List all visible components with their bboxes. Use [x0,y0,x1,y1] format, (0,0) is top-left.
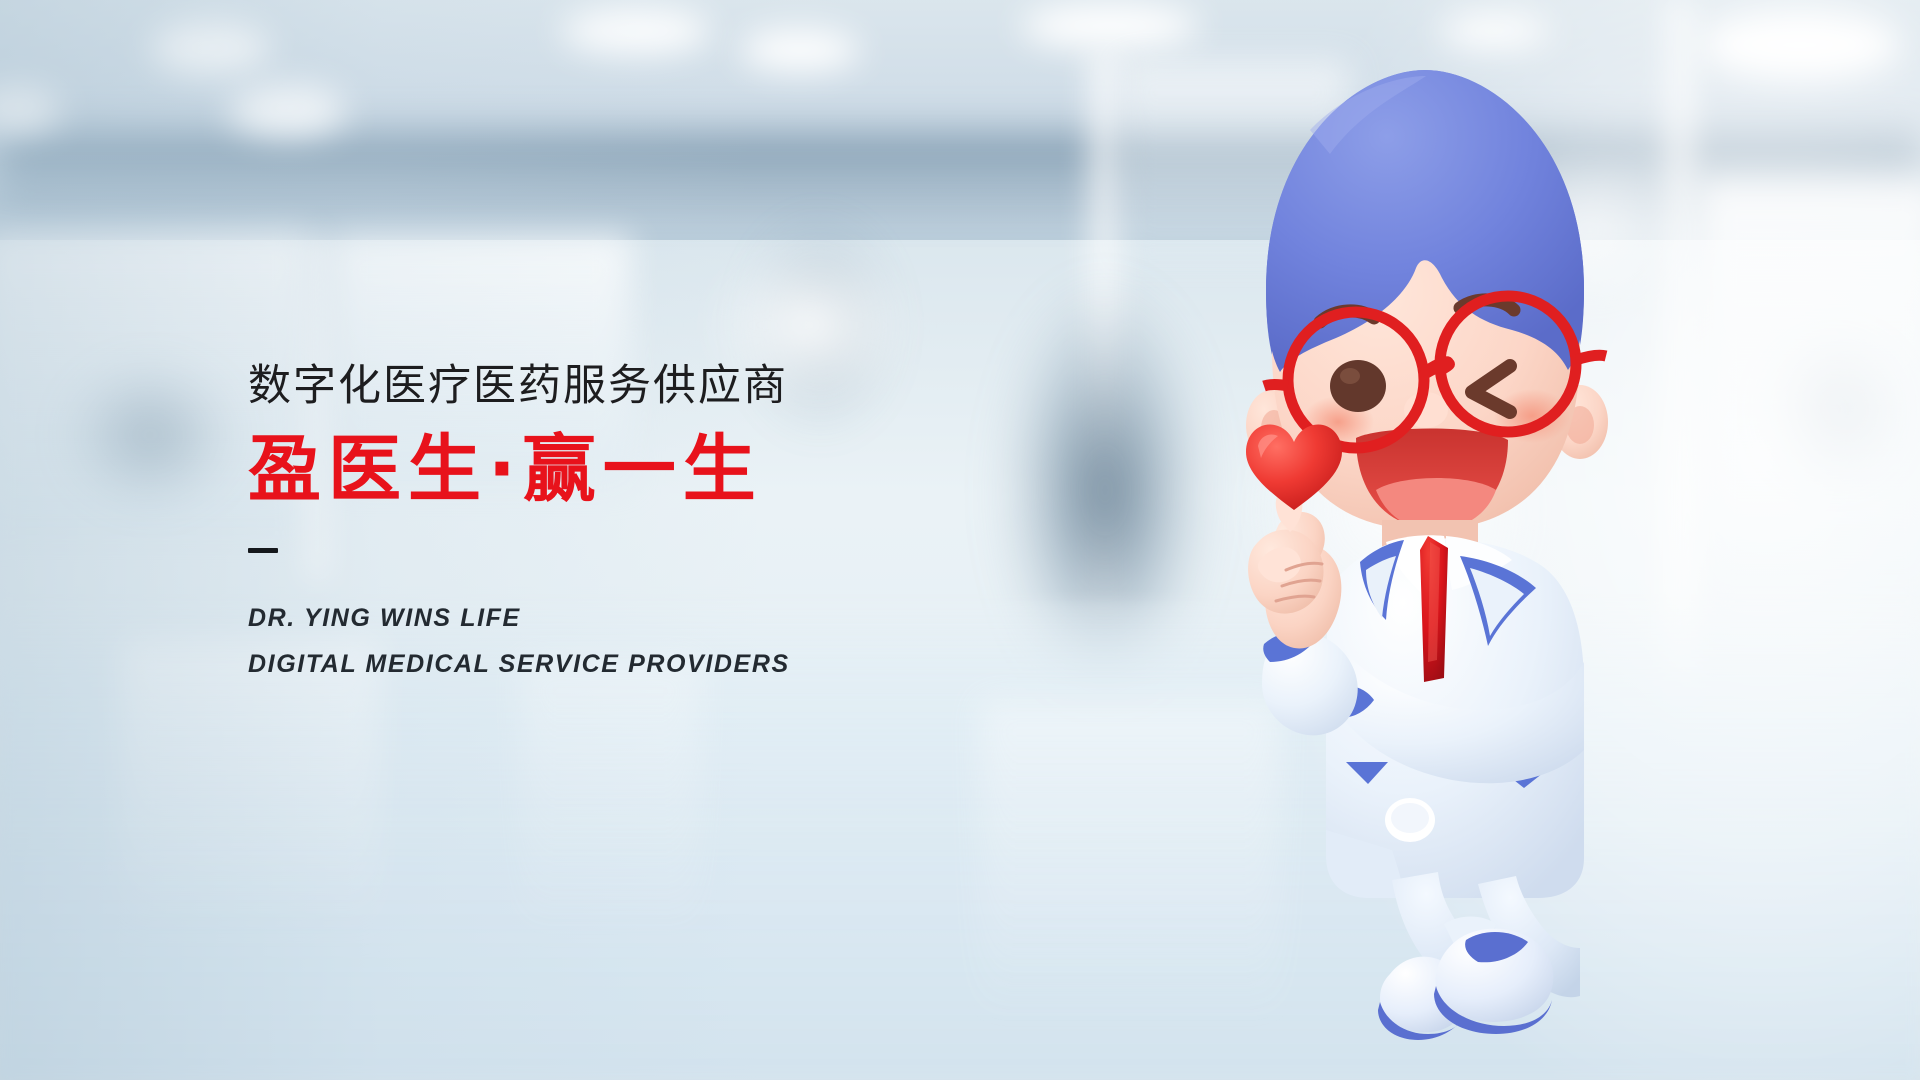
divider-dash [248,548,278,553]
ceiling-lamp-6 [1020,4,1200,48]
page-title: 盈医生·赢一生 [248,426,790,514]
glasses-temple-left [1264,385,1288,387]
doctor-character-illustration [1160,50,1680,1060]
glasses-temple-right [1576,355,1606,360]
subtitle-line-2: DIGITAL MEDICAL SERVICE PROVIDERS [248,641,790,687]
subtitle-line-1: DR. YING WINS LIFE [248,595,790,641]
hero-text-block: 数字化医疗医药服务供应商 盈医生·赢一生 DR. YING WINS LIFE … [248,360,790,688]
banner-stage: 数字化医疗医药服务供应商 盈医生·赢一生 DR. YING WINS LIFE … [0,0,1920,1080]
finger-heart-hand [1248,487,1325,613]
kicker-line: 数字化医疗医药服务供应商 [248,360,790,412]
eye-left-open [1330,360,1386,412]
subtitle-block: DR. YING WINS LIFE DIGITAL MEDICAL SERVI… [248,595,790,688]
